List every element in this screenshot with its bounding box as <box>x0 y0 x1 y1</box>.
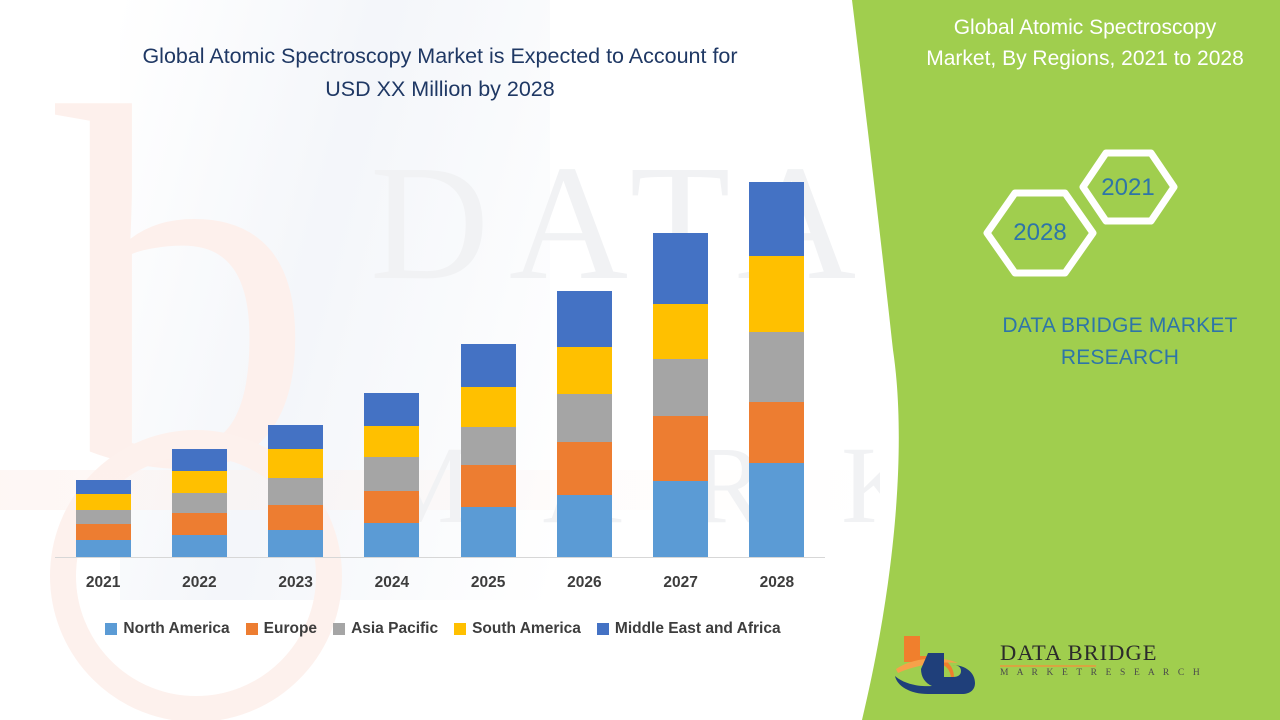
panel-brand-text: DATA BRIDGE MARKET RESEARCH <box>960 310 1280 374</box>
infographic-slide: b DATA BRIDGE M A R K E T R E S E A R C … <box>0 0 1280 720</box>
panel-title: Global Atomic Spectroscopy Market, By Re… <box>900 12 1270 74</box>
panel-brand-line-1: DATA BRIDGE MARKET <box>960 310 1280 342</box>
logo-wordmark: DATA BRIDGE <box>1000 640 1130 666</box>
hexagon-2021-label: 2021 <box>1101 174 1154 201</box>
hexagon-group: 2028 2021 <box>975 145 1195 290</box>
panel-title-line-1: Global Atomic Spectroscopy <box>900 12 1270 43</box>
logo-divider <box>1000 665 1096 667</box>
logo-tagline: M A R K E T R E S E A R C H <box>1000 668 1130 678</box>
panel-brand-line-2: RESEARCH <box>960 342 1280 374</box>
hexagon-2028-label: 2028 <box>1013 219 1066 246</box>
panel-title-line-2: Market, By Regions, 2021 to 2028 <box>900 43 1270 74</box>
